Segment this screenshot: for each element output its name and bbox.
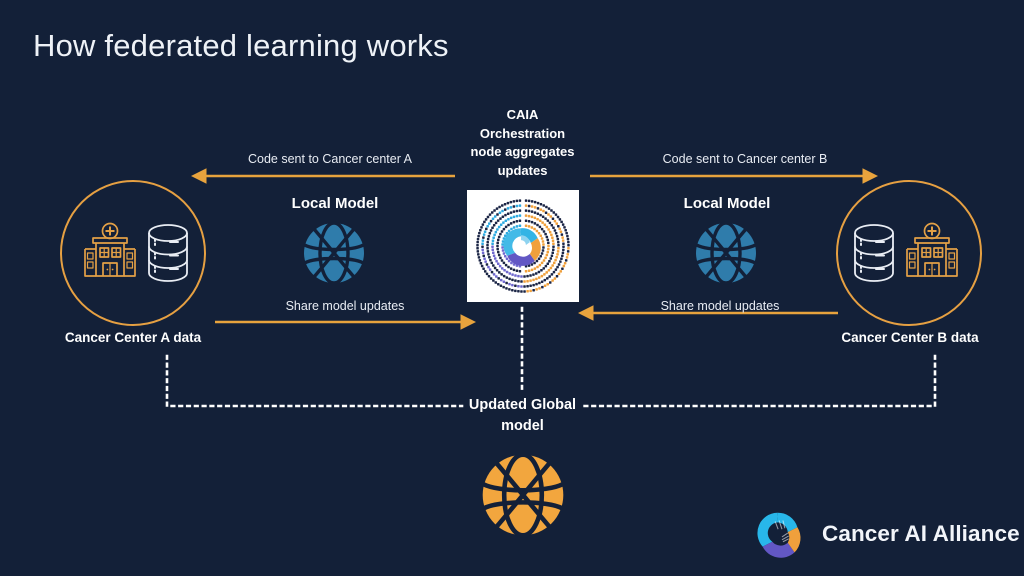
brand-name: Cancer AI Alliance <box>822 521 1020 547</box>
local-model-right-title: Local Model <box>647 195 807 212</box>
cancer-ai-alliance-logo <box>752 505 810 563</box>
arrow-label-code-to-a: Code sent to Cancer center A <box>205 152 455 166</box>
arrow-label-share-updates-left: Share model updates <box>220 299 470 313</box>
database-icon <box>850 222 898 284</box>
updated-global-model-title: Updated Global model <box>440 395 605 437</box>
caia-heading-line-3: node aggregates <box>445 143 600 162</box>
global-model-line-1: Updated Global <box>440 395 605 416</box>
caia-heading-line-4: updates <box>445 162 600 181</box>
database-icon <box>144 222 192 284</box>
globe-icon <box>480 452 566 538</box>
local-model-left-title: Local Model <box>255 195 415 212</box>
caia-heading-line-1: CAIA <box>445 106 600 125</box>
cancer-center-a-label: Cancer Center A data <box>43 330 223 345</box>
global-model-line-2: model <box>440 416 605 437</box>
hospital-icon <box>898 218 966 286</box>
caia-orchestration-heading: CAIA Orchestration node aggregates updat… <box>445 106 600 180</box>
globe-icon <box>302 221 366 285</box>
arrow-label-code-to-b: Code sent to Cancer center B <box>620 152 870 166</box>
hospital-icon <box>76 218 144 286</box>
globe-icon <box>694 221 758 285</box>
brand-lockup: Cancer AI Alliance <box>752 505 1020 563</box>
arrow-label-share-updates-right: Share model updates <box>595 299 845 313</box>
caia-orchestration-node-icon <box>467 190 579 302</box>
caia-orchestration-node-card <box>467 190 579 302</box>
page-title: How federated learning works <box>33 28 449 64</box>
diagram-canvas: How federated learning works Code sent t… <box>0 0 1024 576</box>
caia-heading-line-2: Orchestration <box>445 125 600 144</box>
cancer-center-b-label: Cancer Center B data <box>820 330 1000 345</box>
